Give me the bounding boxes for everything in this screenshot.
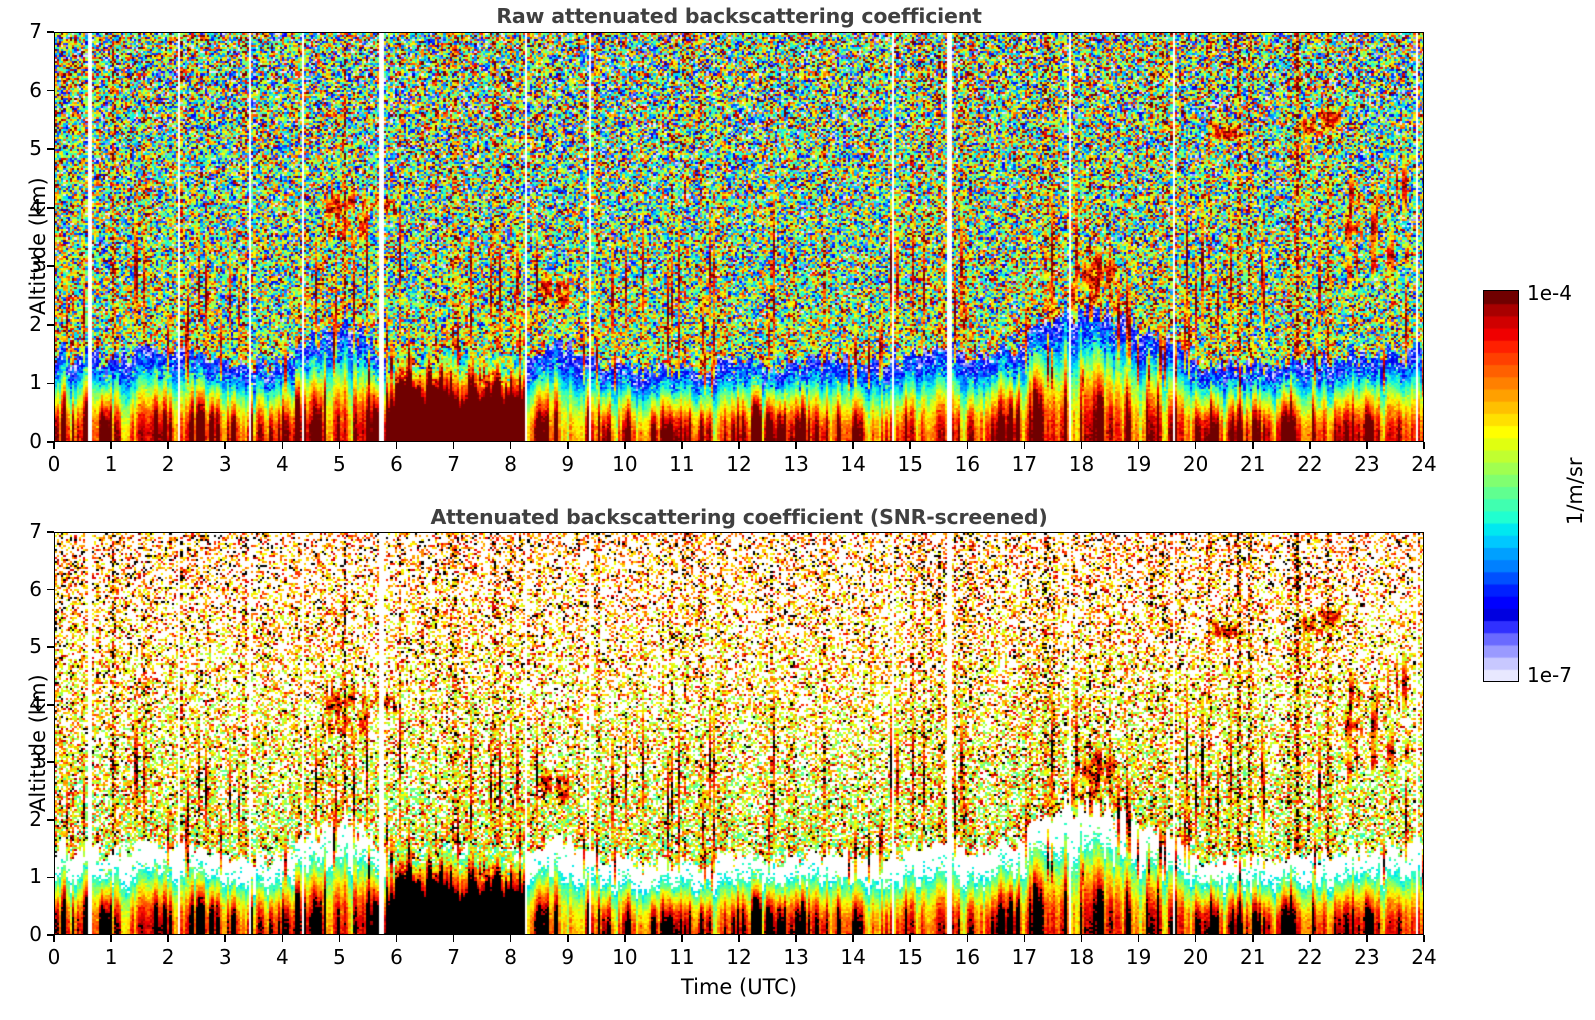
x-tick-label-screened-24: 24 [1399,945,1449,969]
panel-title-screened: Attenuated backscattering coefficient (S… [54,505,1424,529]
y-tick-label-raw-5: 5 [2,136,42,160]
x-tick-screened-6 [396,935,398,942]
x-tick-label-raw-23: 23 [1342,452,1392,476]
x-tick-screened-18 [1081,935,1083,942]
x-tick-raw-13 [795,442,797,449]
x-tick-label-screened-12: 12 [714,945,764,969]
x-tick-label-raw-10: 10 [600,452,650,476]
x-tick-raw-7 [453,442,455,449]
x-tick-raw-22 [1309,442,1311,449]
x-tick-raw-5 [339,442,341,449]
x-tick-label-screened-10: 10 [600,945,650,969]
y-tick-label-screened-1: 1 [2,864,42,888]
x-tick-screened-5 [339,935,341,942]
x-tick-label-raw-19: 19 [1114,452,1164,476]
x-tick-label-raw-4: 4 [257,452,307,476]
x-tick-screened-23 [1366,935,1368,942]
x-tick-label-screened-11: 11 [657,945,707,969]
x-tick-raw-14 [852,442,854,449]
y-tick-label-screened-0: 0 [2,922,42,946]
x-tick-label-raw-15: 15 [885,452,935,476]
y-tick-raw-7 [47,31,54,33]
x-tick-label-raw-24: 24 [1399,452,1449,476]
x-tick-label-raw-7: 7 [429,452,479,476]
y-tick-raw-2 [47,324,54,326]
x-tick-screened-13 [795,935,797,942]
y-tick-label-raw-0: 0 [2,429,42,453]
x-tick-raw-24 [1423,442,1425,449]
x-tick-label-raw-20: 20 [1171,452,1221,476]
x-tick-raw-16 [967,442,969,449]
x-tick-label-screened-23: 23 [1342,945,1392,969]
x-tick-screened-21 [1252,935,1254,942]
x-tick-screened-17 [1024,935,1026,942]
x-tick-label-raw-12: 12 [714,452,764,476]
x-tick-raw-6 [396,442,398,449]
x-tick-screened-12 [738,935,740,942]
y-tick-screened-4 [47,704,54,706]
x-tick-label-raw-16: 16 [942,452,992,476]
x-tick-raw-23 [1366,442,1368,449]
x-tick-label-screened-19: 19 [1114,945,1164,969]
x-tick-label-screened-3: 3 [200,945,250,969]
y-tick-label-screened-7: 7 [2,519,42,543]
x-tick-label-raw-18: 18 [1057,452,1107,476]
x-tick-label-screened-18: 18 [1057,945,1107,969]
x-tick-screened-0 [53,935,55,942]
x-tick-screened-24 [1423,935,1425,942]
x-tick-label-raw-17: 17 [999,452,1049,476]
y-tick-label-screened-6: 6 [2,577,42,601]
x-tick-raw-11 [681,442,683,449]
y-tick-label-screened-2: 2 [2,807,42,831]
x-tick-raw-0 [53,442,55,449]
x-tick-raw-20 [1195,442,1197,449]
x-tick-raw-17 [1024,442,1026,449]
y-tick-screened-1 [47,877,54,879]
x-tick-screened-16 [967,935,969,942]
x-tick-label-screened-6: 6 [372,945,422,969]
y-tick-raw-3 [47,265,54,267]
colorbar-unit-label: 1/m/sr [1563,457,1587,525]
x-tick-raw-3 [224,442,226,449]
x-tick-label-screened-17: 17 [999,945,1049,969]
x-tick-raw-12 [738,442,740,449]
x-tick-screened-22 [1309,935,1311,942]
x-tick-screened-9 [567,935,569,942]
y-tick-screened-6 [47,589,54,591]
x-tick-screened-19 [1138,935,1140,942]
y-tick-label-screened-5: 5 [2,634,42,658]
y-tick-label-screened-4: 4 [2,692,42,716]
x-tick-screened-15 [909,935,911,942]
y-tick-label-raw-3: 3 [2,253,42,277]
y-tick-screened-0 [47,934,54,936]
y-tick-label-raw-7: 7 [2,19,42,43]
x-tick-label-raw-13: 13 [771,452,821,476]
x-tick-label-screened-14: 14 [828,945,878,969]
x-axis-label: Time (UTC) [54,975,1424,999]
x-tick-label-raw-22: 22 [1285,452,1335,476]
y-tick-screened-5 [47,646,54,648]
y-tick-label-screened-3: 3 [2,749,42,773]
x-tick-raw-10 [624,442,626,449]
x-tick-label-screened-21: 21 [1228,945,1278,969]
x-tick-label-raw-8: 8 [486,452,536,476]
x-tick-raw-15 [909,442,911,449]
x-tick-label-raw-3: 3 [200,452,250,476]
x-tick-label-raw-9: 9 [543,452,593,476]
y-tick-raw-0 [47,441,54,443]
y-tick-label-raw-4: 4 [2,195,42,219]
screened-backscatter-heatmap [54,532,1424,935]
x-tick-raw-1 [110,442,112,449]
x-tick-label-screened-4: 4 [257,945,307,969]
x-tick-screened-7 [453,935,455,942]
x-tick-label-raw-1: 1 [86,452,136,476]
y-tick-screened-7 [47,531,54,533]
x-tick-raw-9 [567,442,569,449]
x-tick-screened-14 [852,935,854,942]
raw-backscatter-heatmap [54,32,1424,442]
y-tick-screened-3 [47,761,54,763]
x-tick-label-screened-5: 5 [314,945,364,969]
y-tick-label-raw-6: 6 [2,78,42,102]
lidar-figure: Raw attenuated backscattering coefficien… [0,0,1595,1020]
x-tick-label-screened-2: 2 [143,945,193,969]
x-tick-label-raw-5: 5 [314,452,364,476]
y-tick-raw-5 [47,148,54,150]
x-tick-screened-3 [224,935,226,942]
x-tick-screened-2 [167,935,169,942]
x-tick-label-raw-11: 11 [657,452,707,476]
x-tick-label-screened-20: 20 [1171,945,1221,969]
x-tick-raw-8 [510,442,512,449]
x-tick-label-screened-9: 9 [543,945,593,969]
y-tick-label-raw-2: 2 [2,312,42,336]
x-tick-screened-8 [510,935,512,942]
x-tick-screened-1 [110,935,112,942]
x-tick-screened-20 [1195,935,1197,942]
x-tick-label-screened-16: 16 [942,945,992,969]
x-tick-label-screened-1: 1 [86,945,136,969]
x-tick-label-screened-7: 7 [429,945,479,969]
x-tick-label-raw-21: 21 [1228,452,1278,476]
x-tick-label-screened-8: 8 [486,945,536,969]
colorbar [1483,290,1519,682]
colorbar-max-label: 1e-4 [1527,281,1572,305]
x-tick-label-screened-15: 15 [885,945,935,969]
x-tick-label-screened-0: 0 [29,945,79,969]
x-tick-raw-4 [282,442,284,449]
x-tick-raw-2 [167,442,169,449]
colorbar-min-label: 1e-7 [1527,663,1572,687]
x-tick-label-raw-0: 0 [29,452,79,476]
y-tick-screened-2 [47,819,54,821]
panel-title-raw: Raw attenuated backscattering coefficien… [54,4,1424,28]
x-tick-screened-10 [624,935,626,942]
y-tick-raw-4 [47,207,54,209]
x-tick-label-raw-2: 2 [143,452,193,476]
x-tick-screened-4 [282,935,284,942]
x-tick-raw-21 [1252,442,1254,449]
x-tick-label-raw-6: 6 [372,452,422,476]
y-tick-raw-1 [47,383,54,385]
y-tick-label-raw-1: 1 [2,370,42,394]
x-tick-label-screened-13: 13 [771,945,821,969]
x-tick-label-raw-14: 14 [828,452,878,476]
x-tick-label-screened-22: 22 [1285,945,1335,969]
x-tick-raw-18 [1081,442,1083,449]
x-tick-raw-19 [1138,442,1140,449]
x-tick-screened-11 [681,935,683,942]
y-tick-raw-6 [47,90,54,92]
